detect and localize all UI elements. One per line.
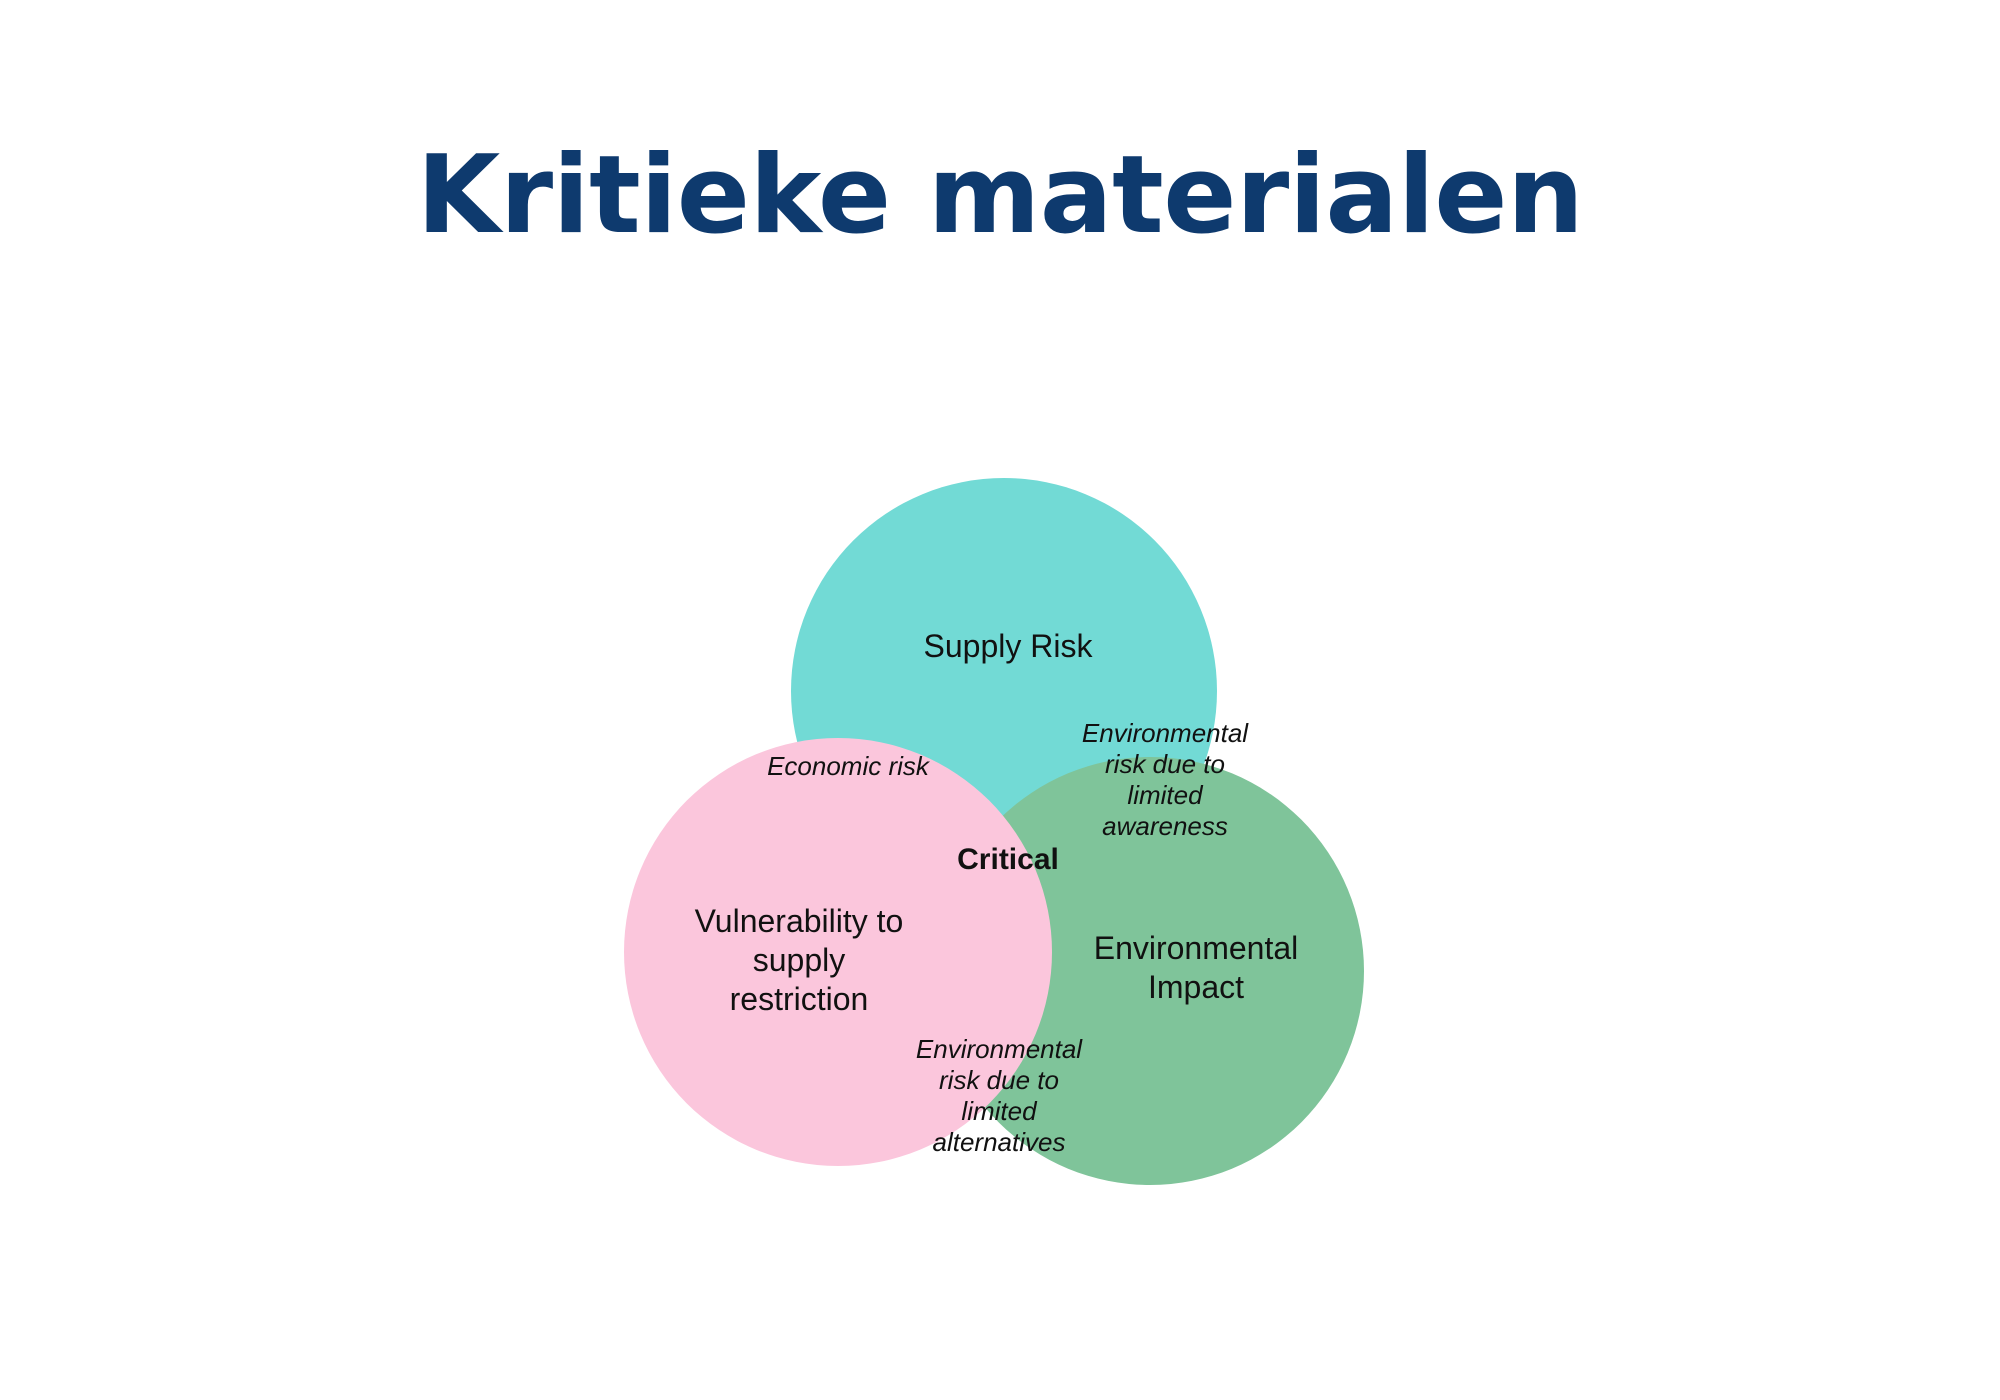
venn-label-environmental-impact: Environmental Impact <box>1056 929 1336 1007</box>
venn-label-environmental-risk-alternatives-line-4: alternatives <box>886 1127 1112 1158</box>
venn-label-vulnerability-line-2: supply <box>648 941 950 980</box>
venn-label-environmental-risk-awareness-line-3: limited <box>1052 780 1278 811</box>
venn-label-economic-risk: Economic risk <box>713 751 983 782</box>
venn-label-environmental-impact-line-2: Impact <box>1056 968 1336 1007</box>
venn-label-environmental-risk-alternatives: Environmental risk due to limited altern… <box>886 1034 1112 1158</box>
venn-label-economic-risk-line-1: Economic risk <box>713 751 983 782</box>
venn-diagram: Supply Risk Economic risk Environmental … <box>0 0 2000 1400</box>
venn-label-vulnerability: Vulnerability to supply restriction <box>648 902 950 1019</box>
venn-label-environmental-risk-alternatives-line-1: Environmental <box>886 1034 1112 1065</box>
venn-label-environmental-risk-awareness-line-4: awareness <box>1052 811 1278 842</box>
venn-label-supply-risk-line-1: Supply Risk <box>853 627 1163 666</box>
venn-label-critical: Critical <box>938 842 1078 878</box>
venn-label-environmental-risk-awareness: Environmental risk due to limited awaren… <box>1052 718 1278 842</box>
venn-label-vulnerability-line-1: Vulnerability to <box>648 902 950 941</box>
venn-label-environmental-risk-awareness-line-2: risk due to <box>1052 749 1278 780</box>
venn-label-critical-line-1: Critical <box>938 842 1078 878</box>
venn-label-environmental-risk-alternatives-line-3: limited <box>886 1096 1112 1127</box>
venn-label-environmental-risk-alternatives-line-2: risk due to <box>886 1065 1112 1096</box>
venn-label-supply-risk: Supply Risk <box>853 627 1163 666</box>
venn-label-vulnerability-line-3: restriction <box>648 980 950 1019</box>
venn-label-environmental-impact-line-1: Environmental <box>1056 929 1336 968</box>
venn-label-environmental-risk-awareness-line-1: Environmental <box>1052 718 1278 749</box>
